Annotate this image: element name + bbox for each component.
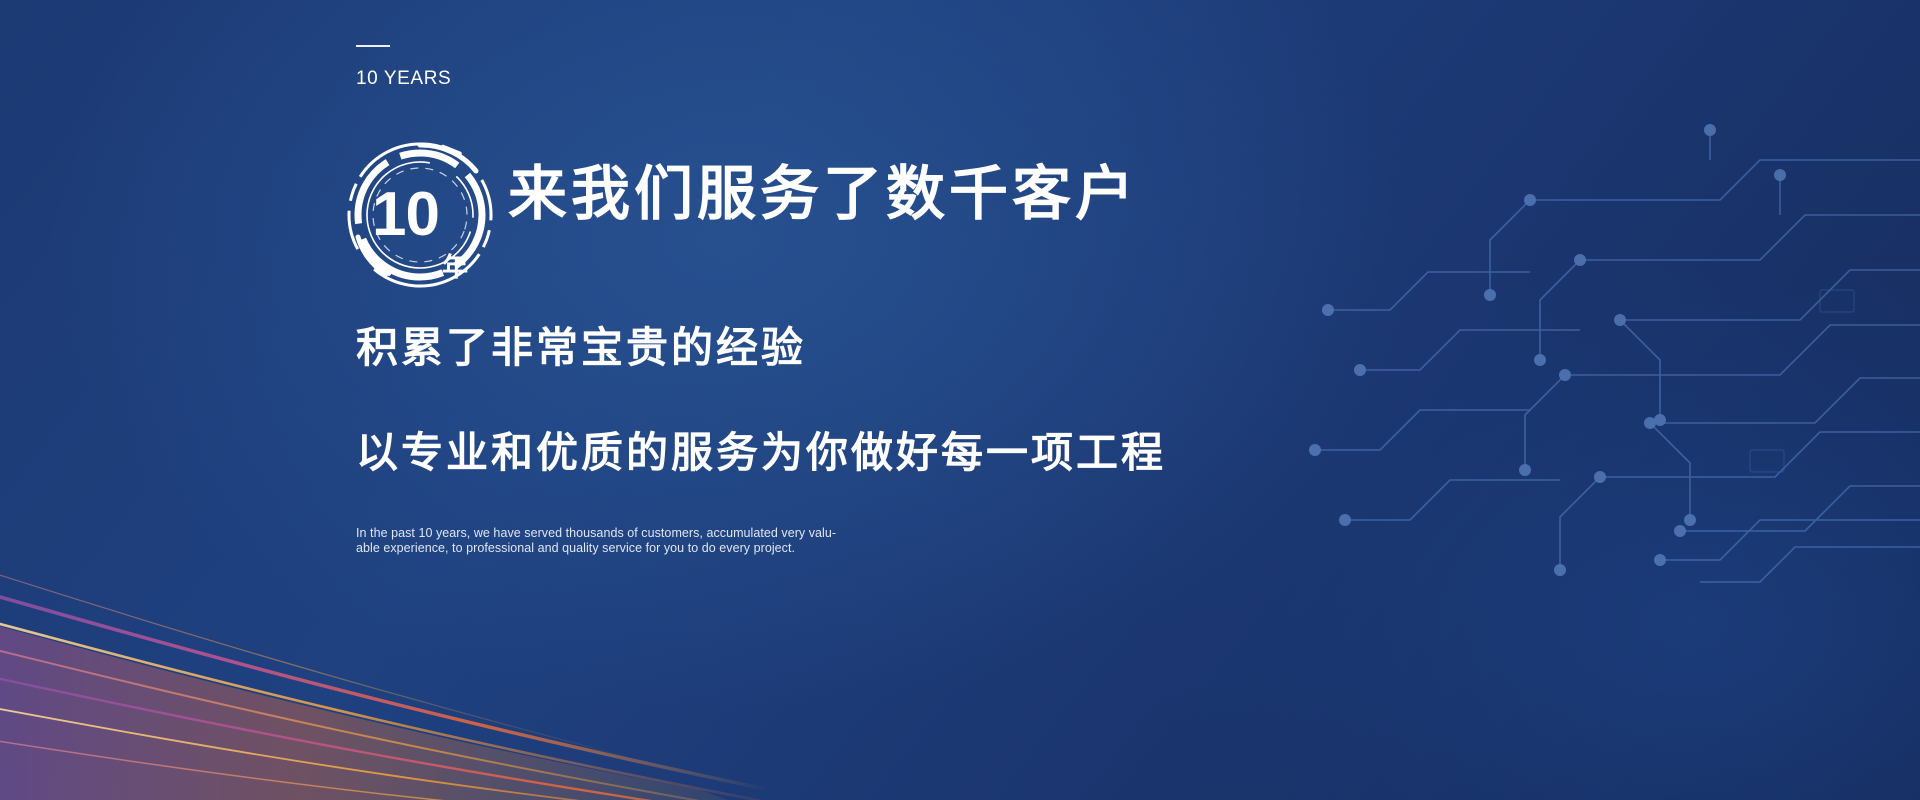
caption-line-1: In the past 10 years, we have served tho… [356, 526, 786, 541]
eyebrow-rule [356, 45, 390, 47]
banner-content: 10 YEARS [356, 0, 1656, 800]
promo-banner: 10 YEARS [0, 0, 1920, 800]
emblem-number: 10 [372, 184, 439, 246]
english-caption: In the past 10 years, we have served tho… [356, 526, 786, 557]
subheadline-2: 以专业和优质的服务为你做好每一项工程 [356, 432, 1656, 474]
eyebrow-label: 10 YEARS [356, 69, 1656, 88]
emblem-text: 10 年 [344, 139, 496, 291]
caption-line-2: able experience, to professional and qua… [356, 541, 786, 556]
emblem-unit: 年 [442, 254, 468, 280]
subheadline-1: 积累了非常宝贵的经验 [356, 327, 1656, 369]
headline-row: 10 年 来我们服务了数千客户 [356, 139, 1656, 291]
headline: 来我们服务了数千客户 [508, 165, 1138, 224]
ten-years-emblem-icon: 10 年 [344, 139, 496, 291]
